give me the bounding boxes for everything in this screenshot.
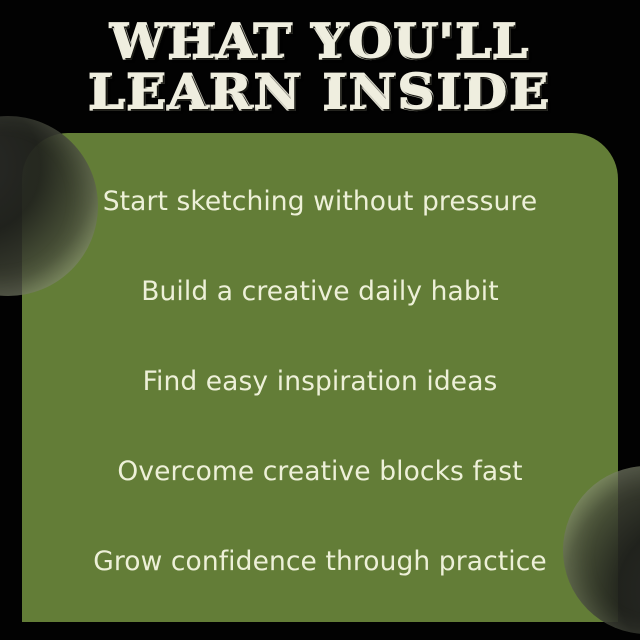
page-title-line-1: WHAT YOU'LL xyxy=(0,18,640,68)
list-item: Overcome creative blocks fast xyxy=(117,427,522,517)
list-item: Grow confidence through practice xyxy=(93,517,547,607)
list-item: Start sketching without pressure xyxy=(103,157,538,247)
list-item: Find easy inspiration ideas xyxy=(143,337,498,427)
poster-canvas: WHAT YOU'LL LEARN INSIDE Start sketching… xyxy=(0,0,640,640)
page-title-line-2: LEARN INSIDE xyxy=(0,68,640,118)
page-title: WHAT YOU'LL LEARN INSIDE xyxy=(0,18,640,118)
benefits-list: Start sketching without pressure Build a… xyxy=(22,133,618,622)
list-item: Build a creative daily habit xyxy=(141,247,499,337)
